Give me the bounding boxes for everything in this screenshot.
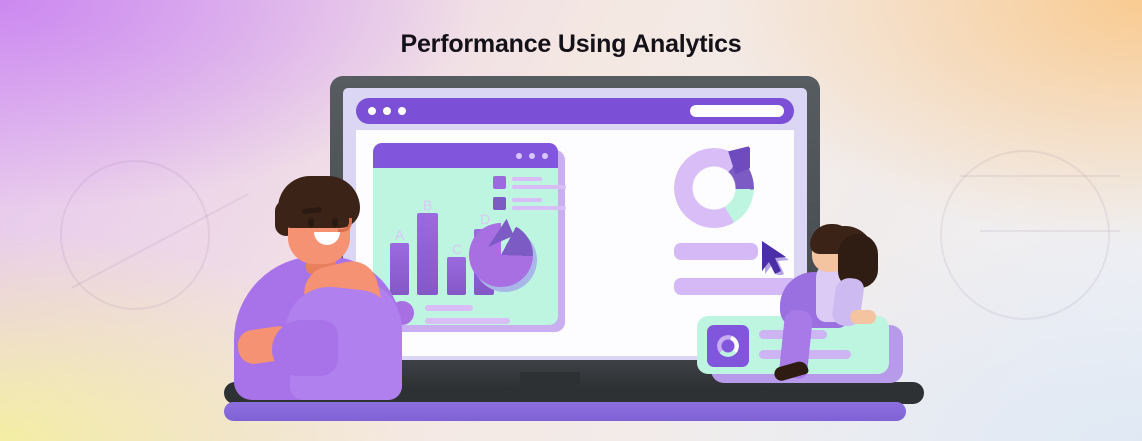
browser-dot-maximize-icon	[398, 107, 406, 115]
laptop-shelf	[224, 402, 906, 421]
bar-b	[417, 213, 438, 295]
stat-line-1	[425, 305, 473, 311]
legend-swatch-2	[493, 197, 506, 210]
background-line-decoration	[980, 230, 1120, 232]
browser-toolbar	[356, 98, 794, 124]
address-bar[interactable]	[690, 105, 784, 117]
bar-label-b: B	[423, 197, 432, 213]
background-line-decoration	[960, 175, 1120, 177]
card-dot-2-icon	[529, 153, 535, 159]
legend-line-2b	[512, 206, 566, 210]
card-dot-3-icon	[542, 153, 548, 159]
bar-c	[447, 257, 466, 295]
background-ring-decoration	[60, 160, 210, 310]
card-dot-1-icon	[516, 153, 522, 159]
dashboard-pie-chart	[469, 223, 533, 287]
legend-line-1b	[512, 185, 566, 189]
browser-dot-minimize-icon	[383, 107, 391, 115]
woman-shoe	[773, 360, 810, 383]
man-eye	[308, 218, 314, 227]
man-character	[228, 168, 408, 400]
legend-swatch-1	[493, 176, 506, 189]
mini-card-icon-tile	[707, 325, 749, 367]
bar-label-c: C	[452, 241, 462, 257]
browser-window-dots	[368, 107, 406, 115]
illustration-stage: Performance Using Analytics	[0, 0, 1142, 441]
legend-line-1a	[512, 177, 542, 181]
browser-dot-close-icon	[368, 107, 376, 115]
legend-line-2a	[512, 198, 542, 202]
woman-character	[770, 216, 920, 386]
woman-hand	[850, 310, 876, 324]
donut-chart-icon	[717, 335, 739, 357]
content-bar-1	[674, 243, 758, 260]
stat-line-2	[425, 318, 510, 324]
laptop-base-notch	[520, 372, 580, 386]
donut-chart	[674, 148, 754, 228]
dashboard-card-header	[373, 143, 558, 168]
page-title: Performance Using Analytics	[0, 30, 1142, 59]
man-cuff	[272, 320, 338, 376]
background-line-decoration	[71, 193, 249, 289]
background-ring-decoration	[940, 150, 1110, 320]
